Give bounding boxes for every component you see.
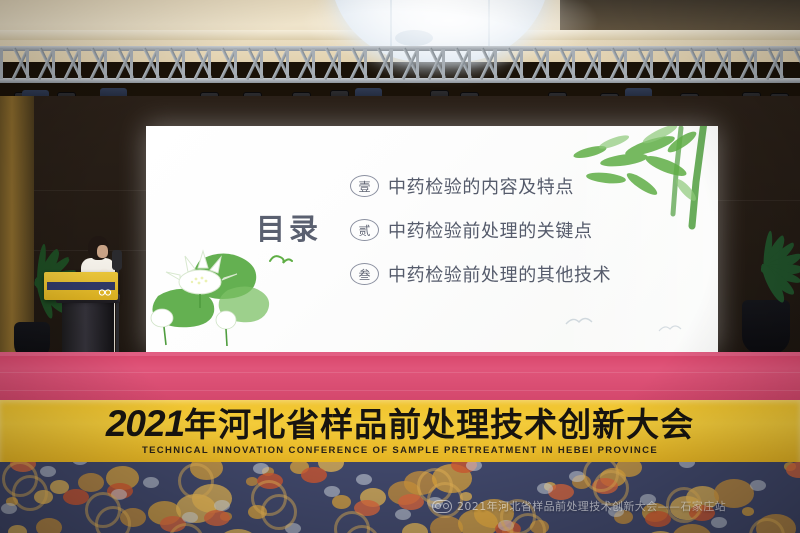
list-item: 贰 中药检验前处理的关键点 bbox=[350, 208, 690, 252]
watermark-text: 2021年河北省样品前处理技术创新大会——石家庄站 bbox=[457, 498, 726, 514]
list-item-label: 中药检验前处理的其他技术 bbox=[388, 261, 611, 287]
list-numeral: 叁 bbox=[350, 263, 379, 285]
event-banner: 2021年河北省样品前处理技术创新大会 TECHNICAL INNOVATION… bbox=[0, 400, 800, 468]
bird-mark-icon bbox=[564, 314, 594, 328]
list-item: 壹 中药检验的内容及特点 bbox=[350, 164, 690, 208]
watermark: 2021年河北省样品前处理技术创新大会——石家庄站 bbox=[432, 498, 726, 514]
bird-mark-icon bbox=[658, 322, 682, 334]
projection-screen: 目录 壹 中药检验的内容及特点 贰 中药检验前处理的关键点 叁 中药检验前处理的… bbox=[146, 126, 718, 352]
wave-swirl-ornament-icon bbox=[268, 252, 294, 265]
slide-contents-list: 壹 中药检验的内容及特点 贰 中药检验前处理的关键点 叁 中药检验前处理的其他技… bbox=[350, 164, 690, 296]
palm-plant bbox=[728, 222, 800, 322]
lotus-artwork bbox=[146, 234, 282, 346]
list-item: 叁 中药检验前处理的其他技术 bbox=[350, 252, 690, 296]
list-numeral: 壹 bbox=[350, 175, 379, 197]
banner-title-cn: 2021年河北省样品前处理技术创新大会 bbox=[0, 404, 800, 445]
banner-title-en: TECHNICAL INNOVATION CONFERENCE OF SAMPL… bbox=[0, 445, 800, 457]
microphone-head bbox=[112, 250, 122, 270]
conference-photo-scene: /*noop*/ bbox=[0, 0, 800, 533]
list-item-label: 中药检验前处理的关键点 bbox=[388, 217, 593, 243]
banner-year: 2021 bbox=[106, 403, 184, 444]
podium-sign bbox=[44, 272, 118, 300]
slide-title: 目录 bbox=[256, 206, 322, 248]
double-circle-logo-icon bbox=[97, 289, 113, 296]
stage-front-edge bbox=[0, 352, 800, 356]
list-item-label: 中药检验的内容及特点 bbox=[388, 173, 574, 199]
double-circle-logo-icon bbox=[432, 500, 452, 513]
list-numeral: 贰 bbox=[350, 219, 379, 241]
